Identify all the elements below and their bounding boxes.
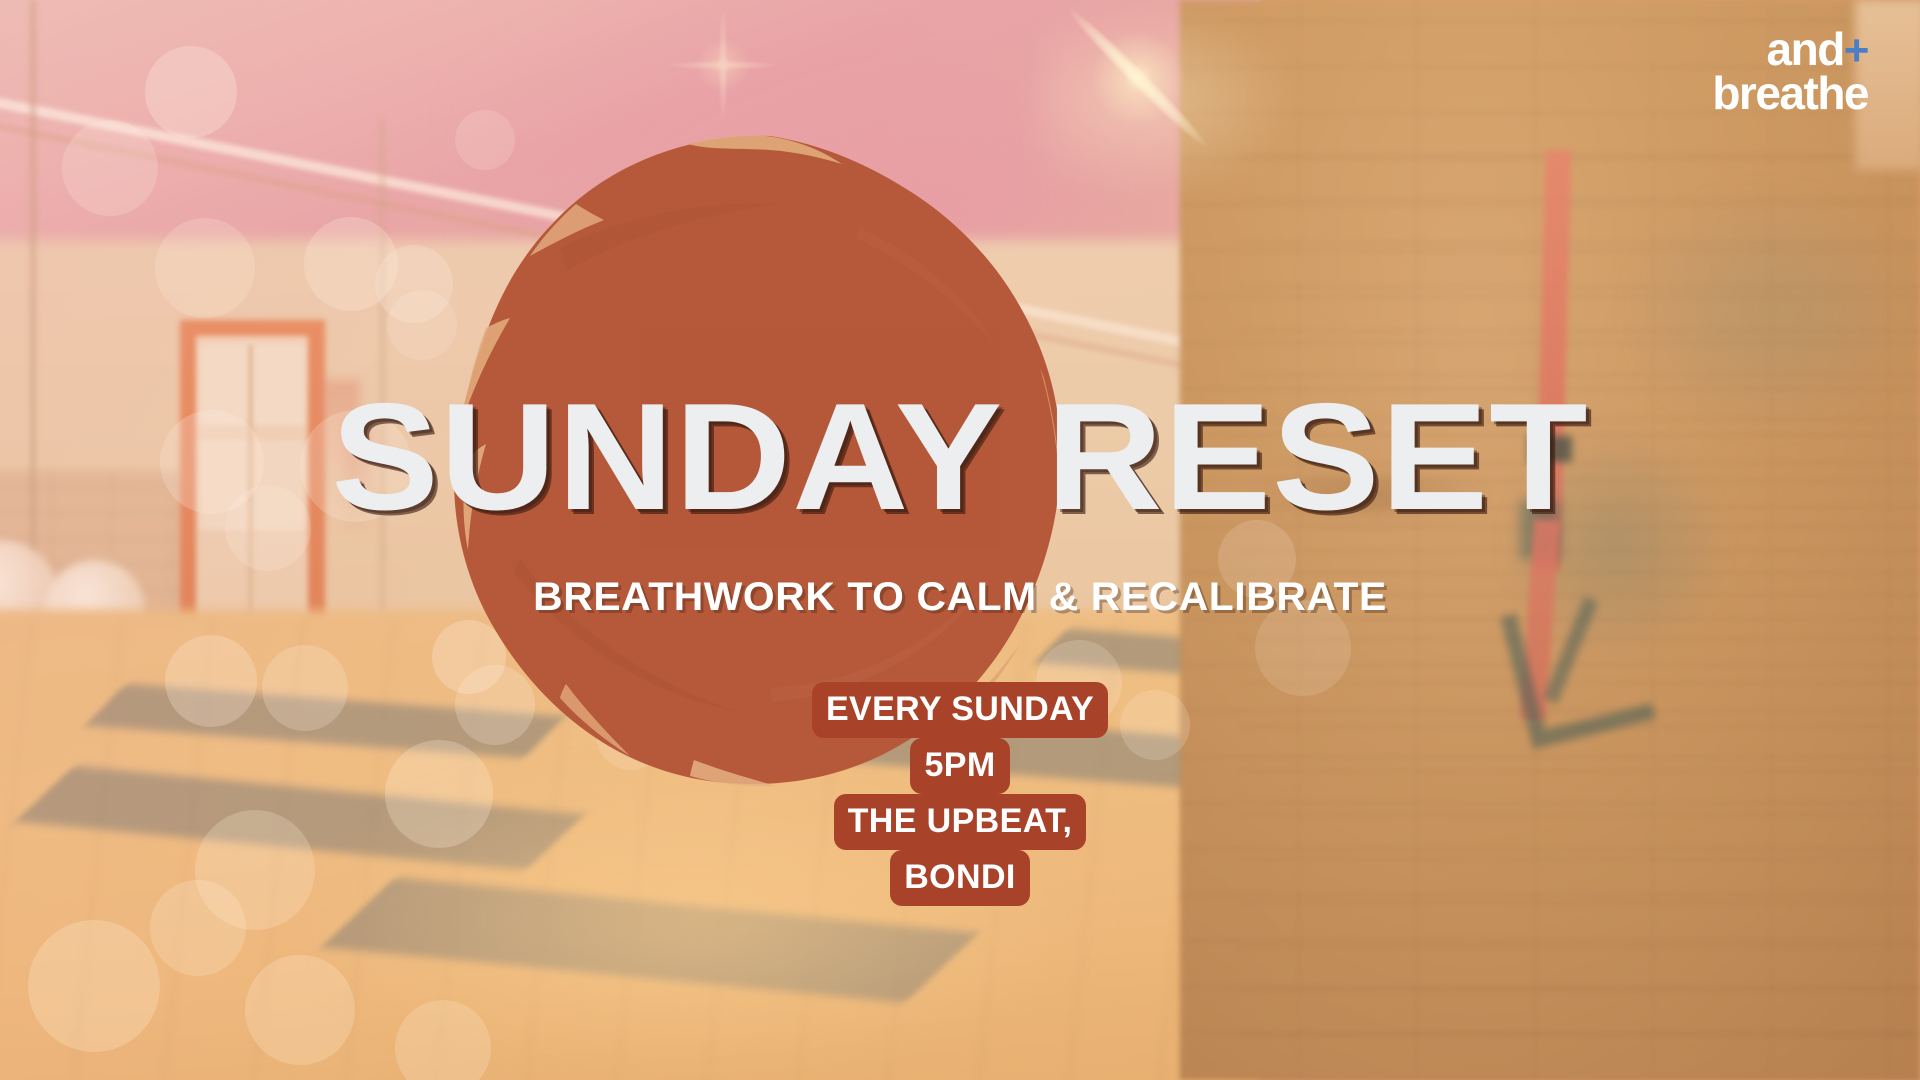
detail-text: BONDI — [890, 850, 1030, 906]
brand-logo: and+ breathe — [1712, 28, 1868, 114]
page-title: SUNDAY RESET — [0, 382, 1920, 532]
detail-text: EVERY SUNDAY — [812, 682, 1108, 738]
detail-line: EVERY SUNDAY — [0, 682, 1920, 738]
subtitle: BREATHWORK TO CALM & RECALIBRATE — [0, 575, 1920, 620]
brand-logo-line-1: and+ — [1712, 28, 1868, 72]
poster-content: and+ breathe SUNDAY RESET BREATHWORK TO … — [0, 0, 1920, 1080]
brand-logo-line-2: breathe — [1712, 72, 1868, 114]
detail-text: 5PM — [910, 738, 1009, 794]
detail-line: 5PM — [0, 738, 1920, 794]
event-poster: and+ breathe SUNDAY RESET BREATHWORK TO … — [0, 0, 1920, 1080]
detail-line: THE UPBEAT, — [0, 794, 1920, 850]
event-details: EVERY SUNDAY 5PM THE UPBEAT, BONDI — [0, 682, 1920, 906]
detail-line: BONDI — [0, 850, 1920, 906]
detail-text: THE UPBEAT, — [834, 794, 1087, 850]
